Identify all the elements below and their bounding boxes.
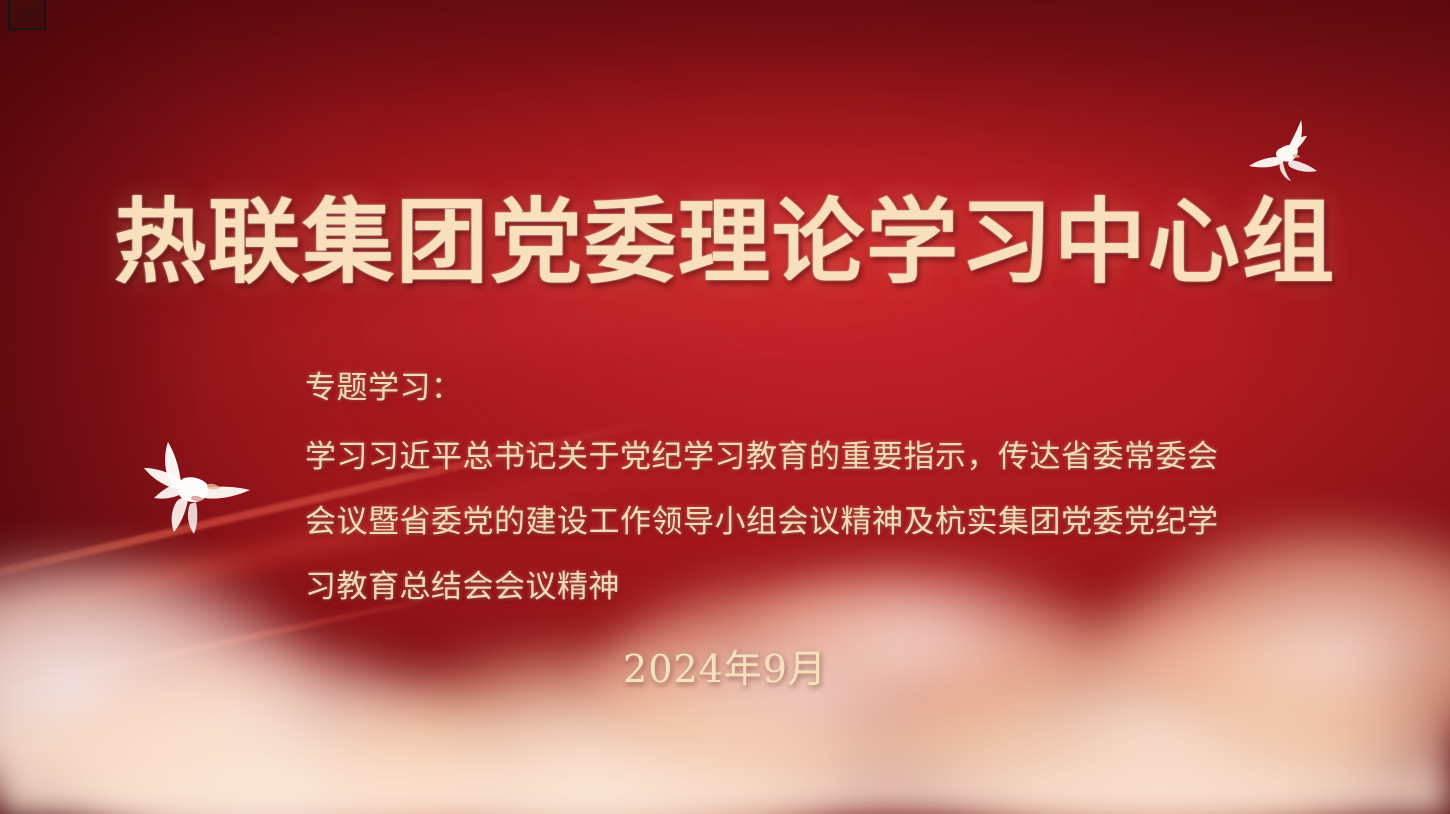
body-line-3: 习教育总结会会议精神: [305, 555, 1255, 620]
body-line-2: 会议暨省委党的建设工作领导小组会议精神及杭实集团党委党纪学: [305, 490, 1255, 555]
slide-date: 2024年9月: [0, 638, 1450, 693]
slide-number-badge: 20: [8, 0, 46, 30]
dove-icon: [1243, 116, 1329, 194]
body-text-block: 专题学习： 学习习近平总书记关于党纪学习教育的重要指示，传达省委常委会 会议暨省…: [305, 356, 1255, 620]
body-line-1: 学习习近平总书记关于党纪学习教育的重要指示，传达省委常委会: [305, 425, 1255, 490]
page-title: 热联集团党委理论学习中心组: [0, 196, 1450, 288]
dove-icon: [128, 436, 268, 544]
topic-label: 专题学习：: [305, 356, 1255, 421]
presentation-slide: 热联集团党委理论学习中心组 专题学习： 学习习近平总书记关于党纪学习教育的重要指…: [0, 0, 1450, 814]
